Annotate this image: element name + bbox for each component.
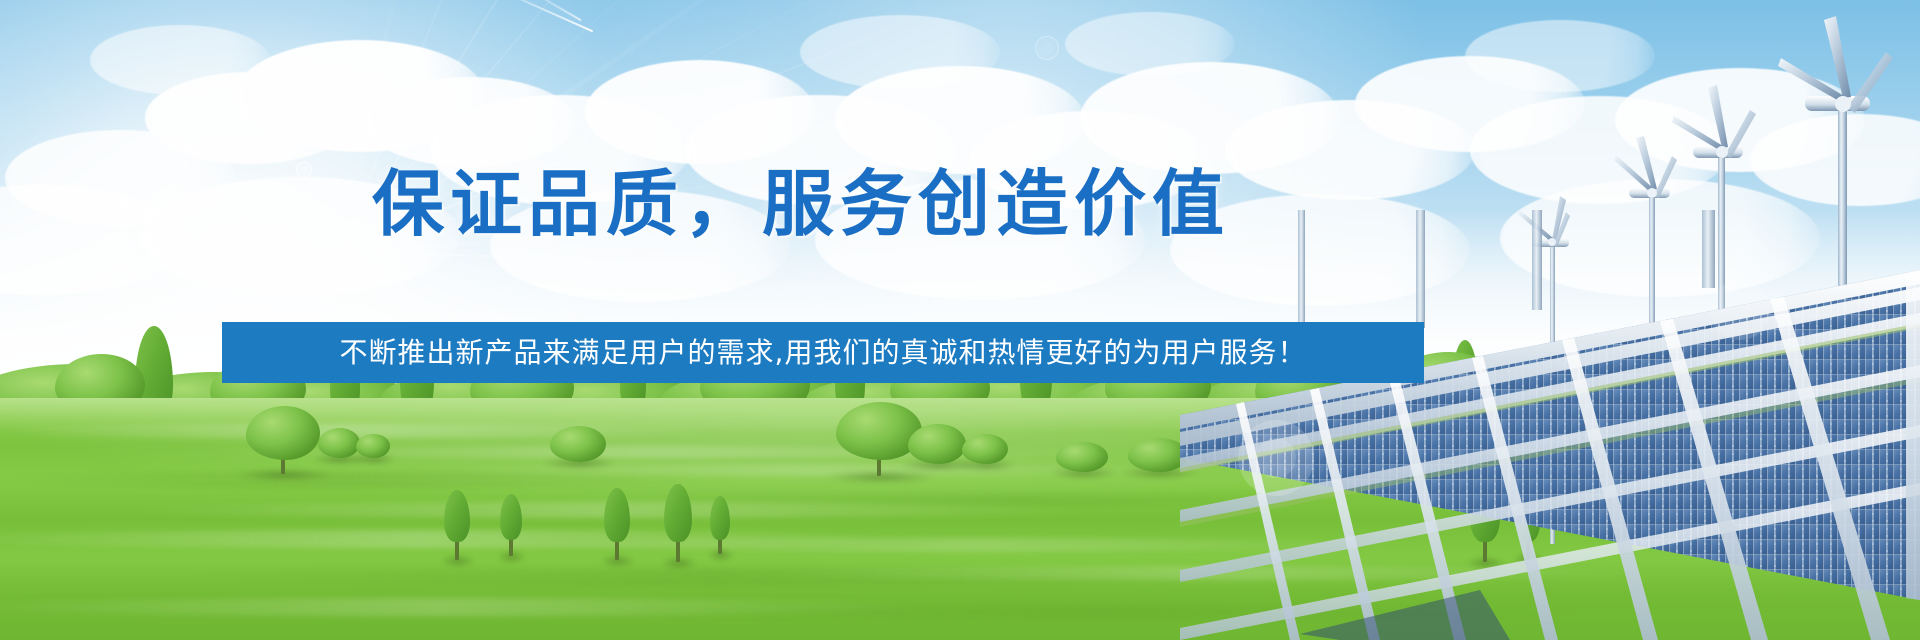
tree-crown [356,434,390,458]
grass-field [0,398,1920,640]
conifer-tree [1470,480,1500,562]
tree-shadow [901,458,976,472]
mow-stripe [420,464,1200,476]
broadleaf-tree [836,402,922,476]
tree-trunk [509,536,513,556]
tree-crown [836,402,922,460]
shrub [356,434,390,458]
shrub [908,424,966,464]
tree-crown [1128,438,1188,472]
mow-stripe [600,604,1600,620]
tree-crown [1056,442,1108,472]
subtitle-text: 不断推出新产品来满足用户的需求,用我们的真诚和热情更好的为用户服务！ [340,339,1307,367]
mow-stripe [760,566,1660,580]
tree-trunk [1483,538,1487,562]
tree-shadow [708,548,734,562]
tree-shadow [1050,466,1118,480]
tree-trunk [676,538,680,562]
mow-stripe [520,538,1420,552]
tree-trunk [718,536,722,554]
mow-stripe [120,502,1100,518]
tree-shadow [661,556,697,570]
shrub [1056,442,1108,472]
conifer-tree [500,494,522,556]
mow-stripe [0,424,720,438]
tree-crown [664,484,692,542]
tree-crown [444,490,470,542]
shrub [1128,438,1188,472]
mow-stripe [640,494,1400,506]
tree-shadow [826,470,938,484]
mow-stripe [0,472,760,488]
tree-crown [908,424,966,464]
broadleaf-tree [246,406,320,474]
mow-stripe [200,446,1100,458]
tree-shadow [1466,556,1505,570]
tree-shadow [352,452,396,466]
conifer-tree [710,496,730,554]
tree-crown [1470,480,1500,542]
tree-trunk [281,456,285,474]
tree-shadow [1121,466,1199,480]
subtitle-bar: 不断推出新产品来满足用户的需求,用我们的真诚和热情更好的为用户服务！ [222,322,1424,383]
tree-trunk [1526,538,1530,558]
tree-crown [962,434,1008,464]
tree-shadow [956,458,1016,472]
tree-crown [246,406,320,460]
tree-crown [500,494,522,540]
tree-trunk [455,538,459,560]
tree-shadow [601,554,635,568]
tree-crown [318,428,360,458]
conifer-tree [664,484,692,562]
tree-trunk [877,456,881,476]
tree-shadow [237,468,333,482]
tree-crown [550,426,606,462]
tree-shadow [497,550,526,564]
tree-shadow [441,554,475,568]
tree-crown [710,496,730,540]
tree-shadow [543,456,616,470]
tree-trunk [615,538,619,560]
page-title: 保证品质，服务创造价值 [372,168,1230,240]
mow-stripe [0,530,920,548]
shrub [962,434,1008,464]
tree-crown [1516,492,1540,542]
conifer-tree [444,490,470,560]
mow-stripe [160,568,1260,586]
tree-shadow [1513,552,1544,566]
mow-stripe [0,598,940,616]
shrub [318,428,360,458]
tree-crown [604,488,630,542]
tree-shadow [313,452,368,466]
conifer-tree [604,488,630,560]
shrub [550,426,606,462]
hero-banner: 保证品质，服务创造价值 不断推出新产品来满足用户的需求,用我们的真诚和热情更好的… [0,0,1920,640]
conifer-tree [1516,492,1540,558]
